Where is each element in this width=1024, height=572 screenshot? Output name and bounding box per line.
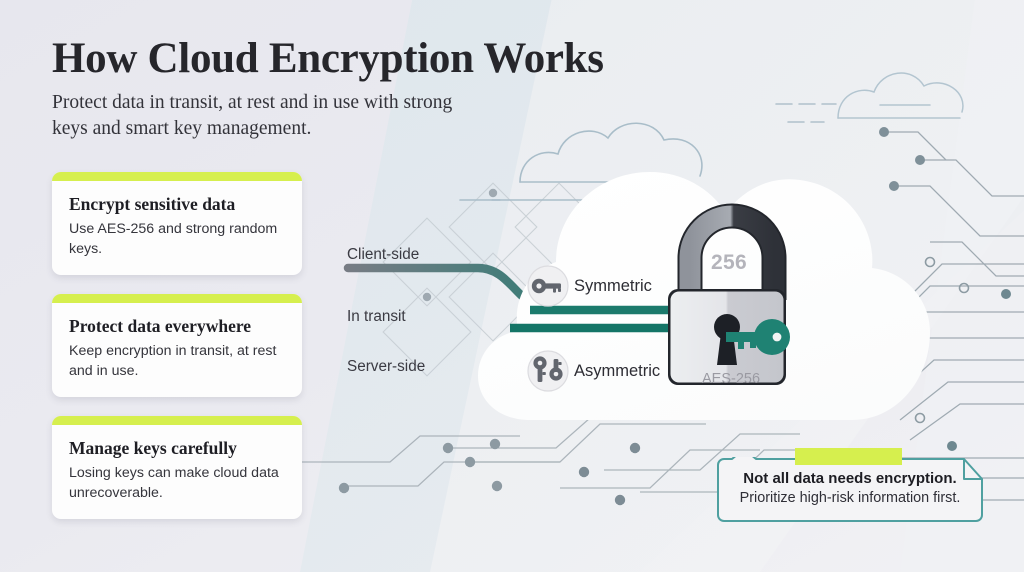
feature-card-protect-data-everywhere[interactable]: Protect data everywhere Keep encryption … xyxy=(52,294,302,397)
card-accent-bar xyxy=(52,416,302,425)
card-body: Protect data everywhere Keep encryption … xyxy=(52,303,302,397)
symmetric-icon-badge xyxy=(528,266,568,306)
feature-card-manage-keys-carefully[interactable]: Manage keys carefully Losing keys can ma… xyxy=(52,416,302,519)
flow-label-in-transit: In transit xyxy=(347,308,406,326)
card-text: Losing keys can make cloud data unrecove… xyxy=(69,464,285,503)
flow-label-client-side: Client-side xyxy=(347,246,419,264)
header-block: How Cloud Encryption Works Protect data … xyxy=(52,36,672,142)
card-title: Encrypt sensitive data xyxy=(69,194,285,214)
callout-box: Not all data needs encryption. Prioritiz… xyxy=(716,457,984,525)
asymmetric-icon-badge xyxy=(528,351,568,391)
flow-label-server-side: Server-side xyxy=(347,358,425,376)
crypto-label-symmetric: Symmetric xyxy=(574,277,652,296)
infographic-canvas: How Cloud Encryption Works Protect data … xyxy=(0,0,1024,572)
card-body: Encrypt sensitive data Use AES-256 and s… xyxy=(52,181,302,275)
lock-caption: AES-256 xyxy=(702,371,760,387)
card-text: Keep encryption in transit, at rest and … xyxy=(69,342,285,381)
lock-bits-label: 256 xyxy=(711,251,747,275)
card-title: Protect data everywhere xyxy=(69,316,285,336)
card-accent-bar xyxy=(52,294,302,303)
card-body: Manage keys carefully Losing keys can ma… xyxy=(52,425,302,519)
callout-title: Not all data needs encryption. xyxy=(716,470,984,487)
card-accent-bar xyxy=(52,172,302,181)
crypto-label-asymmetric: Asymmetric xyxy=(574,362,660,381)
page-subtitle: Protect data in transit, at rest and in … xyxy=(52,90,492,141)
page-title: How Cloud Encryption Works xyxy=(52,36,672,82)
callout-subtitle: Prioritize high-risk information first. xyxy=(716,490,984,506)
card-title: Manage keys carefully xyxy=(69,438,285,458)
callout-accent-tab xyxy=(795,448,902,465)
feature-card-encrypt-sensitive-data[interactable]: Encrypt sensitive data Use AES-256 and s… xyxy=(52,172,302,275)
card-text: Use AES-256 and strong random keys. xyxy=(69,220,285,259)
callout-text-block: Not all data needs encryption. Prioritiz… xyxy=(716,470,984,506)
